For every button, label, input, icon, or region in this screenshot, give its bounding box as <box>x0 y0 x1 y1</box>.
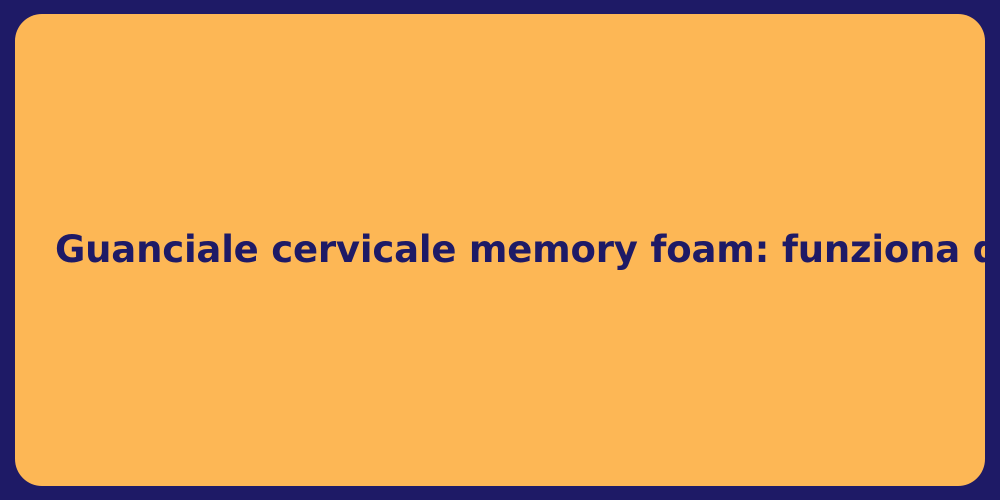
headline-text: Guanciale cervicale memory foam: funzion… <box>15 226 985 273</box>
banner-root: Guanciale cervicale memory foam: funzion… <box>0 0 1000 500</box>
content-card: Guanciale cervicale memory foam: funzion… <box>15 14 985 486</box>
